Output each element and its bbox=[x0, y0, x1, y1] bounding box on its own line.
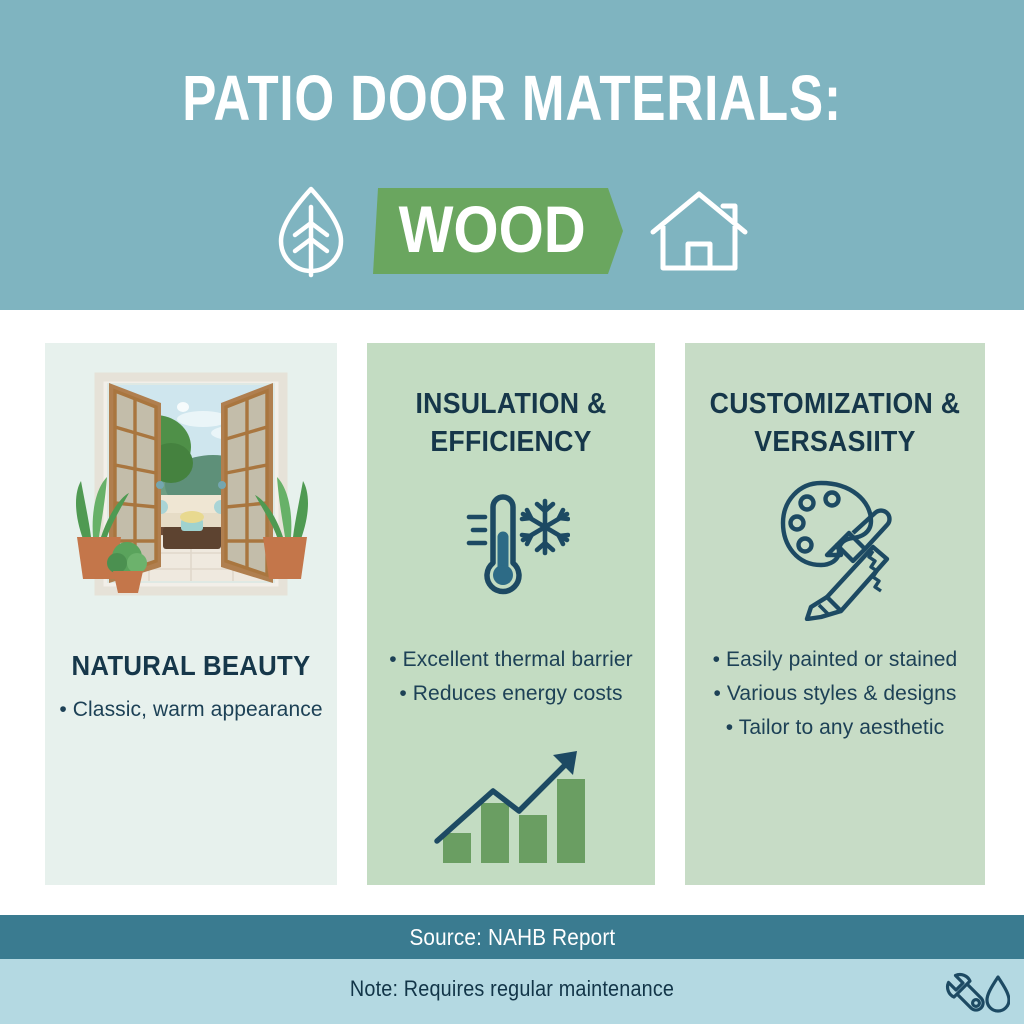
card-natural-beauty: NATURAL BEAUTY • Classic, warm appearanc… bbox=[45, 343, 337, 885]
page-title: PATIO DOOR MATERIALS: bbox=[102, 66, 921, 130]
card-bullets-customization: • Easily painted or stained • Various st… bbox=[685, 643, 985, 745]
house-icon bbox=[649, 186, 749, 276]
heading-line-1: INSULATION & bbox=[379, 385, 644, 423]
card-heading-natural-beauty: NATURAL BEAUTY bbox=[57, 648, 326, 685]
bullet-item: • Easily painted or stained bbox=[685, 643, 985, 677]
chart-bar bbox=[557, 779, 585, 863]
heading-line-2: EFFICIENCY bbox=[379, 423, 644, 461]
right-door-panel bbox=[218, 383, 273, 583]
card-customization-versatility: CUSTOMIZATION & VERSASIITY bbox=[685, 343, 985, 885]
bullet-item: • Excellent thermal barrier bbox=[367, 643, 655, 677]
water-droplet-icon bbox=[987, 977, 1009, 1011]
card-bullets-natural-beauty: • Classic, warm appearance bbox=[45, 693, 337, 727]
thermometer-icon bbox=[469, 497, 519, 591]
heading-line-2: VERSASIITY bbox=[697, 423, 973, 461]
growth-bar-chart-icon bbox=[431, 745, 596, 867]
cards-row: NATURAL BEAUTY • Classic, warm appearanc… bbox=[45, 343, 985, 885]
material-banner: WOOD bbox=[373, 182, 623, 280]
open-patio-door-illustration bbox=[63, 361, 319, 617]
card-heading-insulation: INSULATION & EFFICIENCY bbox=[379, 385, 644, 462]
heading-line-1: CUSTOMIZATION & bbox=[697, 385, 973, 423]
chart-bar bbox=[519, 815, 547, 863]
palette-saw-icon-group bbox=[777, 475, 899, 621]
bullet-item: • Various styles & designs bbox=[685, 677, 985, 711]
footer-source-band: Source: NAHB Report bbox=[0, 915, 1024, 959]
thermometer-snowflake-icon-group bbox=[455, 491, 570, 603]
footer-note-band: Note: Requires regular maintenance bbox=[0, 959, 1024, 1024]
header-banner: PATIO DOOR MATERIALS: WOOD bbox=[0, 0, 1024, 310]
header-subtitle-row: WOOD bbox=[0, 176, 1024, 286]
chart-bar bbox=[481, 803, 509, 863]
wrench-droplet-icon-group bbox=[940, 967, 1010, 1017]
snowflake-icon bbox=[522, 501, 568, 553]
bullet-item: • Classic, warm appearance bbox=[45, 693, 337, 727]
note-text: Note: Requires regular maintenance bbox=[51, 976, 973, 1002]
material-label: WOOD bbox=[398, 196, 597, 262]
bullet-item: • Tailor to any aesthetic bbox=[685, 711, 985, 745]
card-insulation-efficiency: INSULATION & EFFICIENCY bbox=[367, 343, 655, 885]
bullet-item: • Reduces energy costs bbox=[367, 677, 655, 711]
wrench-icon bbox=[948, 975, 984, 1011]
thermometer-scale-marks bbox=[469, 517, 485, 543]
infographic-page: PATIO DOOR MATERIALS: WOOD bbox=[0, 0, 1024, 1024]
card-heading-customization: CUSTOMIZATION & VERSASIITY bbox=[697, 385, 973, 462]
chart-bar bbox=[443, 833, 471, 863]
leaf-icon bbox=[275, 183, 347, 279]
source-text: Source: NAHB Report bbox=[409, 924, 615, 951]
card-bullets-insulation: • Excellent thermal barrier • Reduces en… bbox=[367, 643, 655, 711]
